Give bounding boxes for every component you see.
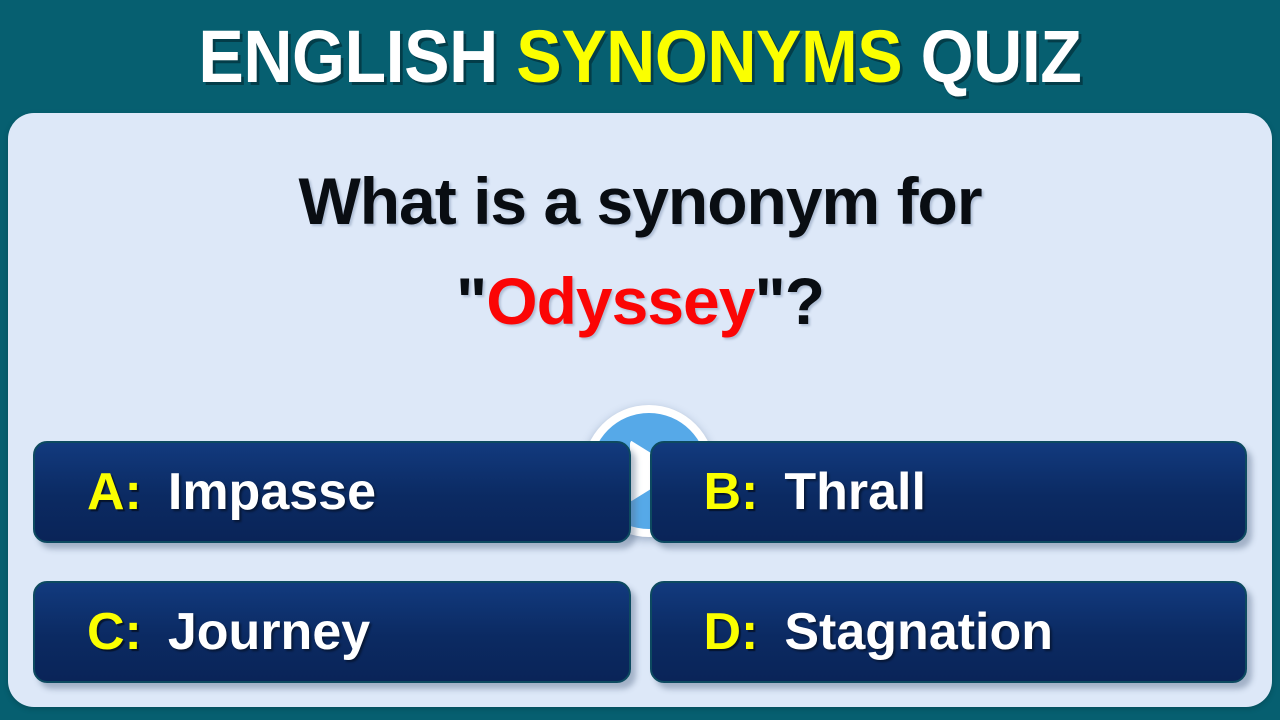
answer-text-b: Thrall (784, 466, 926, 518)
question-quote-close: "? (754, 264, 824, 338)
answer-letter-d: D: (704, 606, 759, 658)
page-title-part-english: ENGLISH (198, 15, 516, 98)
answer-options: A: Impasse B: Thrall C: Journey D: Stagn… (33, 441, 1247, 683)
answer-option-b[interactable]: B: Thrall (650, 441, 1248, 543)
page-title-part-synonyms: SYNONYMS (516, 15, 902, 98)
answer-text-c: Journey (168, 606, 370, 658)
answer-text-d: Stagnation (784, 606, 1053, 658)
page-title: ENGLISH SYNONYMS QUIZ (198, 17, 1081, 97)
answer-letter-a: A: (87, 466, 142, 518)
question-quote-open: " (456, 264, 486, 338)
answer-letter-c: C: (87, 606, 142, 658)
question-line-2: "Odyssey"? (8, 251, 1272, 351)
question-line-1: What is a synonym for (8, 151, 1272, 251)
quiz-header: ENGLISH SYNONYMS QUIZ (0, 0, 1280, 113)
page-title-part-quiz: QUIZ (902, 15, 1081, 98)
answer-letter-b: B: (704, 466, 759, 518)
answer-option-d[interactable]: D: Stagnation (650, 581, 1248, 683)
answer-option-a[interactable]: A: Impasse (33, 441, 631, 543)
answer-text-a: Impasse (168, 466, 376, 518)
question-keyword: Odyssey (486, 264, 754, 338)
quiz-card: What is a synonym for "Odyssey"? A: Impa… (8, 113, 1272, 707)
answer-option-c[interactable]: C: Journey (33, 581, 631, 683)
question-text: What is a synonym for "Odyssey"? (8, 151, 1272, 351)
